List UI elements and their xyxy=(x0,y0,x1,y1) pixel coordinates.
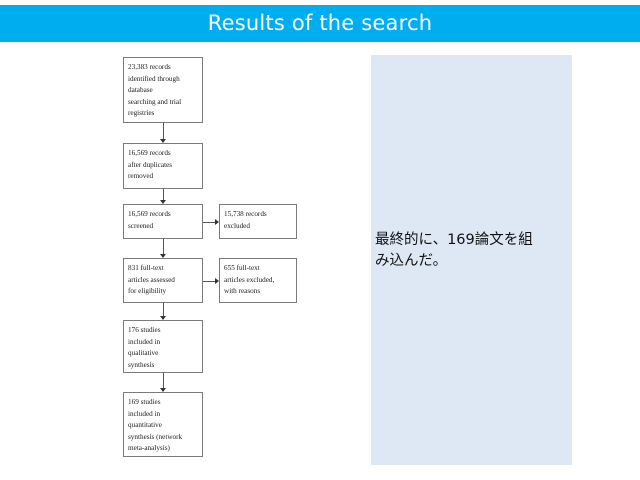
flow-box-after-duplicates: 16,569 records after duplicates removed xyxy=(123,143,203,189)
flow-box-fulltext-assessed: 831 full-text articles assessed for elig… xyxy=(123,258,203,303)
flow-box-identification: 23,383 records identified through databa… xyxy=(123,57,203,123)
flow-box-quantitative-synthesis: 169 studies included in quantitative syn… xyxy=(123,392,203,457)
flow-box-records-screened: 16,569 records screened xyxy=(123,204,203,239)
flow-box-qualitative-synthesis: 176 studies included in qualitative synt… xyxy=(123,320,203,373)
commentary-text: 最終的に、169論文を組 み込んだ。 xyxy=(375,230,575,272)
prisma-flow-diagram: 23,383 records identified through databa… xyxy=(0,0,340,480)
connector-identification-to-duplicates xyxy=(163,123,164,140)
flow-box-fulltext-excluded: 655 full-text articles excluded, with re… xyxy=(219,258,297,303)
flow-box-records-excluded: 15,738 records excluded xyxy=(219,204,297,239)
